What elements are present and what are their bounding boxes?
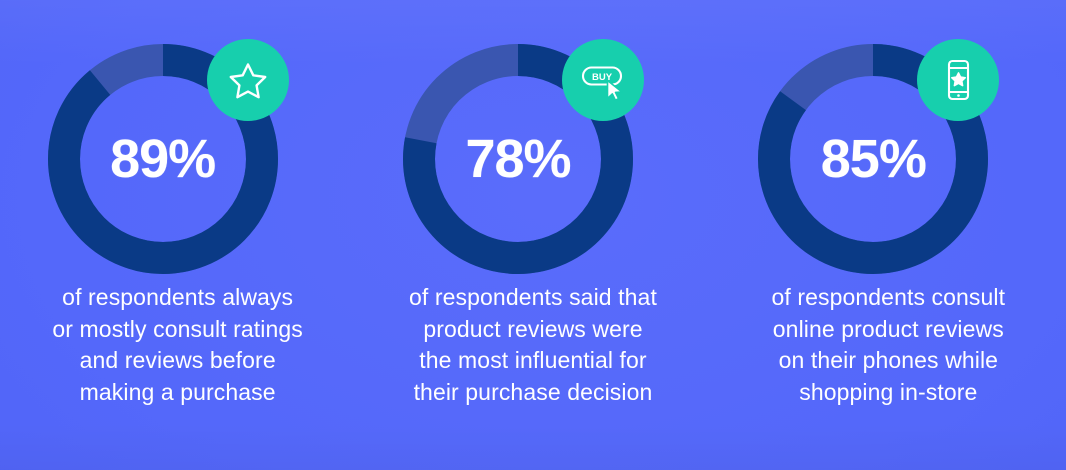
stat-caption-3: of respondents consult online product re… [728,282,1048,408]
star-outline-icon [226,58,270,102]
caption-line: on their phones while [728,345,1048,377]
donut-percent-label-1: 89% [110,132,215,186]
donut-wrap-1: 89% [41,26,315,276]
stat-caption-1: of respondents always or mostly consult … [18,282,338,408]
caption-line: of respondents always [18,282,338,314]
badge-2: BUY [562,39,644,121]
caption-line: their purchase decision [373,377,693,409]
stats-row: 89% of respondents always or mostly cons… [0,0,1066,470]
donut-percent-label-3: 85% [821,132,926,186]
stat-caption-2: of respondents said that product reviews… [373,282,693,408]
phone-star-icon [936,57,980,103]
badge-3 [917,39,999,121]
stat-card-2: 78% BUY of respondents said that product… [355,0,710,408]
caption-line: or mostly consult ratings [18,314,338,346]
donut-percent-label-2: 78% [465,132,570,186]
donut-wrap-2: 78% BUY [396,26,670,276]
caption-line: of respondents said that [373,282,693,314]
infographic-canvas: 89% of respondents always or mostly cons… [0,0,1066,470]
caption-line: product reviews were [373,314,693,346]
caption-line: online product reviews [728,314,1048,346]
badge-1 [207,39,289,121]
donut-wrap-3: 85% [751,26,1025,276]
stat-card-1: 89% of respondents always or mostly cons… [0,0,355,408]
caption-line: making a purchase [18,377,338,409]
caption-line: shopping in-store [728,377,1048,409]
caption-line: and reviews before [18,345,338,377]
buy-button-cursor-icon: BUY [578,58,628,102]
stat-card-3: 85% of respondents consult [711,0,1066,408]
caption-line: of respondents consult [728,282,1048,314]
caption-line: the most influential for [373,345,693,377]
